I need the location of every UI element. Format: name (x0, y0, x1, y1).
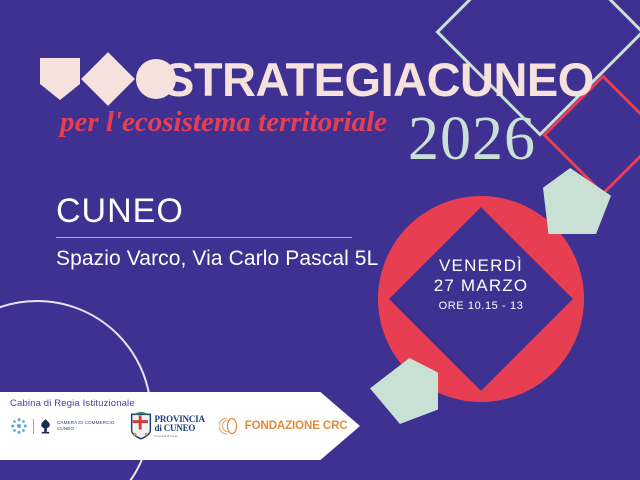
city-label: CUNEO (56, 194, 184, 228)
diamond-icon (81, 52, 135, 106)
logo-camera-line2: CUNEO (57, 426, 115, 432)
event-poster: STRATEGIACUNEO per l'ecosistema territor… (0, 0, 640, 480)
brand-logomark (40, 58, 176, 100)
torch-icon (39, 418, 52, 434)
date-time: ORE 10.15 - 13 (421, 300, 541, 313)
snowflake-icon (10, 417, 28, 435)
date-day-month: 27 MARZO (421, 276, 541, 296)
tagline: per l'ecosistema territoriale (60, 108, 387, 137)
pentagon-mint-left-decoration (370, 358, 438, 424)
logo-fondazione-crc: FONDAZIONE CRC (219, 416, 348, 436)
date-weekday: VENERDÌ (421, 256, 541, 276)
logo-camera-text: CAMERA DI COMMERCIO CUNEO (57, 420, 115, 432)
logo-separator (33, 419, 34, 434)
sponsor-logo-row: CAMERA DI COMMERCIO CUNEO PROVINCIA di C… (10, 412, 348, 440)
logo-provincia-text: PROVINCIA di CUNEO Provincia di Cuneo (155, 415, 205, 438)
logo-camera-di-commercio-cuneo: CAMERA DI COMMERCIO CUNEO (10, 417, 115, 435)
page-title: STRATEGIACUNEO (163, 56, 594, 103)
address-label: Spazio Varco, Via Carlo Pascal 5L (56, 246, 378, 271)
logo-crc-text: FONDAZIONE CRC (245, 420, 348, 432)
year-label: 2026 (408, 108, 536, 170)
logo-provincia-line3: Provincia di Cuneo (155, 435, 205, 438)
sponsor-banner-label: Cabina di Regia Istituzionale (10, 398, 135, 409)
logo-provincia-line2: di CUNEO (155, 424, 205, 433)
coat-of-arms-icon (129, 412, 153, 440)
concentric-arcs-icon (219, 416, 241, 436)
date-badge: VENERDÌ 27 MARZO ORE 10.15 - 13 (421, 256, 541, 313)
logo-provincia-di-cuneo: PROVINCIA di CUNEO Provincia di Cuneo (129, 412, 205, 440)
divider (56, 237, 352, 238)
pentagon-icon (40, 58, 80, 100)
